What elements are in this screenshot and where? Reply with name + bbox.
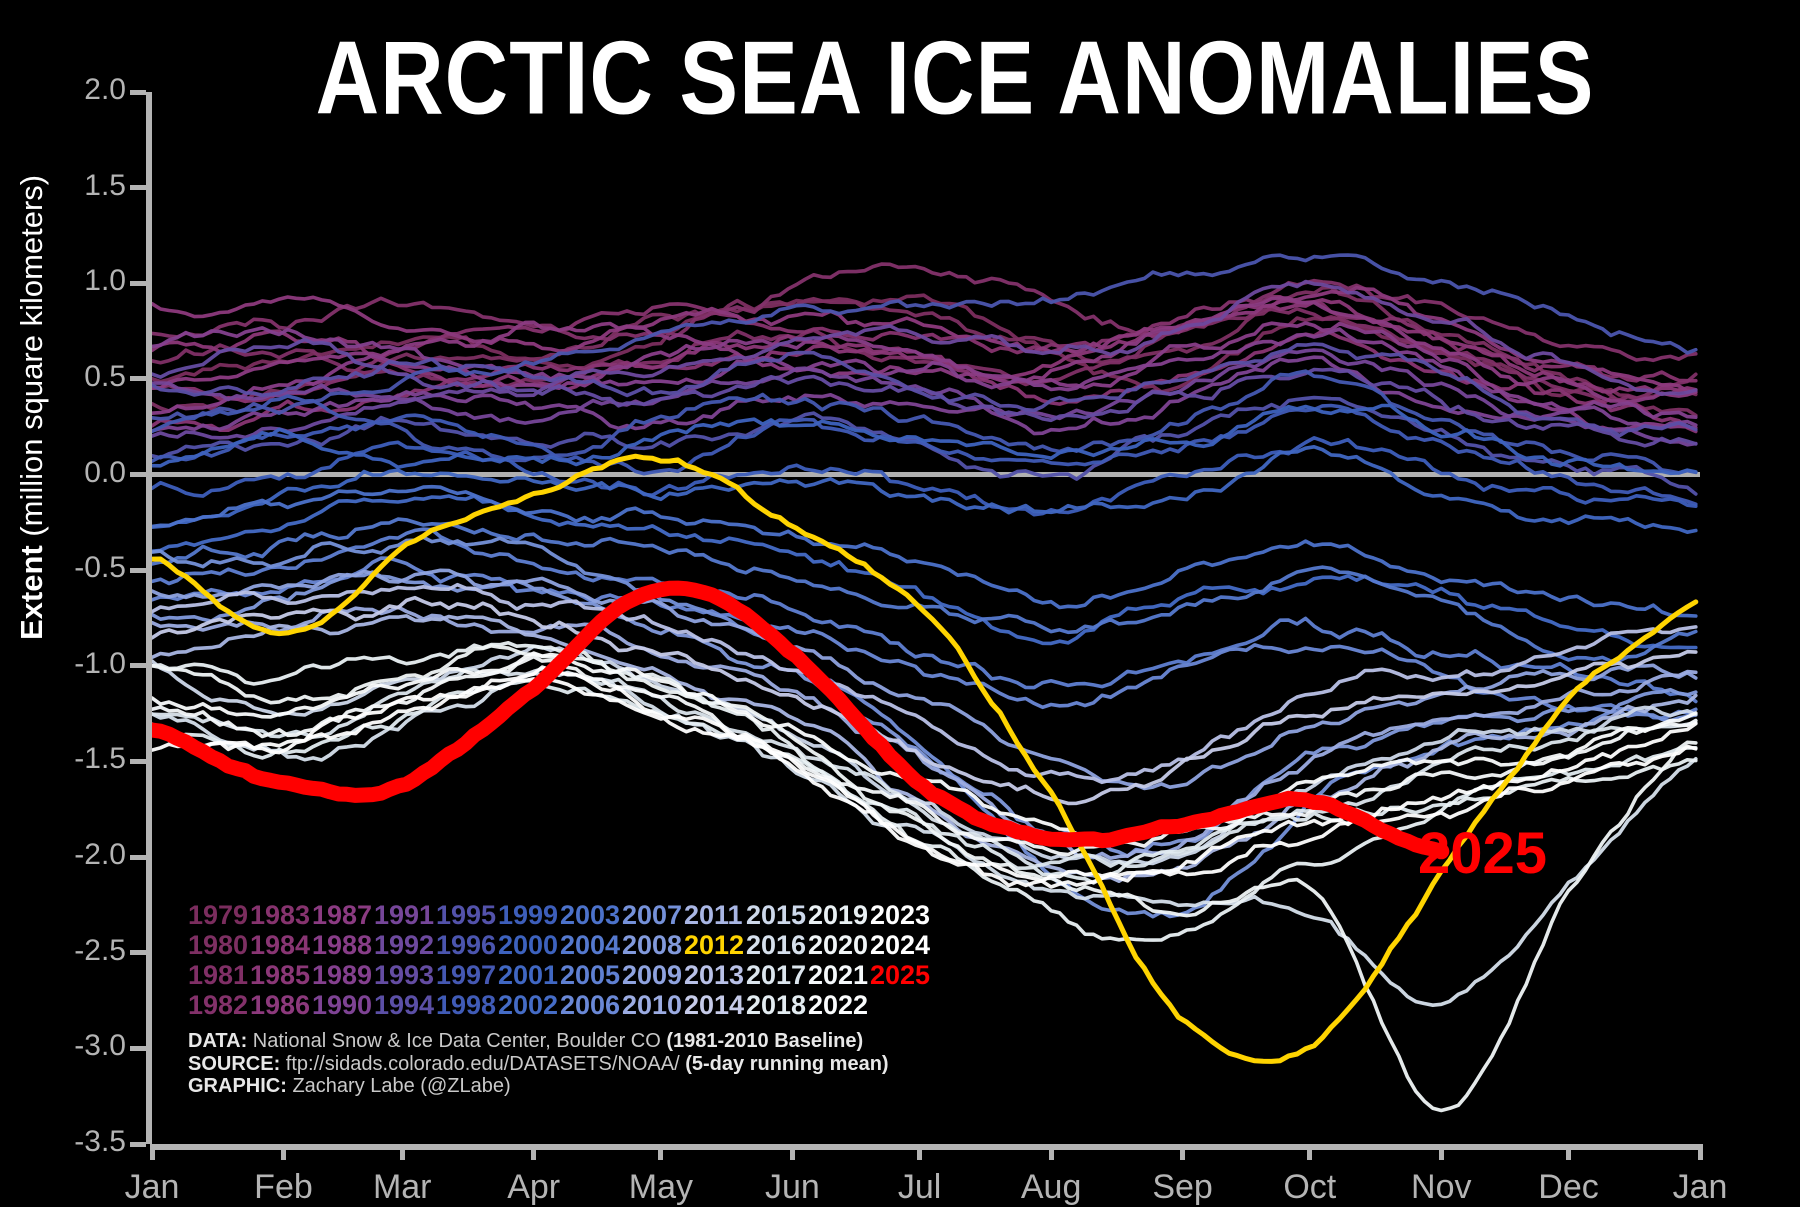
legend-year-2014[interactable]: 2014 <box>684 990 746 1020</box>
credits-data-line: DATA: National Snow & Ice Data Center, B… <box>188 1030 889 1053</box>
x-tick <box>658 1144 663 1160</box>
legend-year-2022[interactable]: 2022 <box>808 990 870 1020</box>
legend-year-2011[interactable]: 2011 <box>684 900 746 930</box>
legend-row: 1979198319871991199519992003200720112015… <box>188 900 932 930</box>
x-axis-line <box>152 1144 1700 1150</box>
y-tick <box>130 1142 146 1147</box>
legend-year-2025[interactable]: 2025 <box>870 960 932 990</box>
x-tick-label: Apr <box>464 1168 604 1207</box>
credits-data-label: DATA: <box>188 1030 247 1052</box>
legend-year-1989[interactable]: 1989 <box>312 960 374 990</box>
x-tick-label: Jan <box>82 1168 222 1207</box>
legend-year-1991[interactable]: 1991 <box>374 900 436 930</box>
y-tick <box>130 759 146 764</box>
legend-year-1987[interactable]: 1987 <box>312 900 374 930</box>
legend-year-2010[interactable]: 2010 <box>622 990 684 1020</box>
x-tick <box>531 1144 536 1160</box>
legend-year-2012[interactable]: 2012 <box>684 930 746 960</box>
x-tick-label: Oct <box>1240 1168 1380 1207</box>
y-tick <box>130 855 146 860</box>
legend-year-2007[interactable]: 2007 <box>622 900 684 930</box>
legend-year-1983[interactable]: 1983 <box>250 900 312 930</box>
legend-year-2013[interactable]: 2013 <box>684 960 746 990</box>
y-tick-label: 1.0 <box>6 264 126 298</box>
legend-year-2009[interactable]: 2009 <box>622 960 684 990</box>
x-tick-label: Jan <box>1630 1168 1770 1207</box>
legend-year-1985[interactable]: 1985 <box>250 960 312 990</box>
y-tick <box>130 376 146 381</box>
legend-year-2006[interactable]: 2006 <box>560 990 622 1020</box>
credits-graphic-line: GRAPHIC: Zachary Labe (@ZLabe) <box>188 1075 889 1098</box>
x-tick-label: May <box>591 1168 731 1207</box>
chart-canvas: ARCTIC SEA ICE ANOMALIES Extent (million… <box>0 0 1800 1200</box>
legend-year-1997[interactable]: 1997 <box>436 960 498 990</box>
legend-year-1980[interactable]: 1980 <box>188 930 250 960</box>
legend-row: 1980198419881992199620002004200820122016… <box>188 930 932 960</box>
legend-year-2000[interactable]: 2000 <box>498 930 560 960</box>
y-tick <box>130 568 146 573</box>
x-tick <box>281 1144 286 1160</box>
legend-year-2018[interactable]: 2018 <box>746 990 808 1020</box>
series-line-2002 <box>152 496 1696 648</box>
x-tick <box>400 1144 405 1160</box>
legend-year-1986[interactable]: 1986 <box>250 990 312 1020</box>
y-tick-label: -1.0 <box>6 647 126 681</box>
legend-year-1979[interactable]: 1979 <box>188 900 250 930</box>
legend-year-2023[interactable]: 2023 <box>870 900 932 930</box>
legend-year-2024[interactable]: 2024 <box>870 930 932 960</box>
x-tick-label: Jul <box>850 1168 990 1207</box>
legend-year-1982[interactable]: 1982 <box>188 990 250 1020</box>
legend-year-2020[interactable]: 2020 <box>808 930 870 960</box>
credits-graphic-label: GRAPHIC: <box>188 1075 287 1097</box>
legend-year-2015[interactable]: 2015 <box>746 900 808 930</box>
legend-row: 1981198519891993199720012005200920132017… <box>188 960 932 990</box>
x-tick-label: Jun <box>722 1168 862 1207</box>
y-tick-label: -0.5 <box>6 551 126 585</box>
x-tick-label: Sep <box>1113 1168 1253 1207</box>
label-2025: 2025 <box>1418 820 1547 887</box>
legend-year-1995[interactable]: 1995 <box>436 900 498 930</box>
legend-year-1993[interactable]: 1993 <box>374 960 436 990</box>
legend-year-1990[interactable]: 1990 <box>312 990 374 1020</box>
credits-source-line: SOURCE: ftp://sidads.colorado.edu/DATASE… <box>188 1053 889 1076</box>
legend-year-1994[interactable]: 1994 <box>374 990 436 1020</box>
y-tick <box>130 281 146 286</box>
y-tick-label: -2.0 <box>6 838 126 872</box>
credits-source-label: SOURCE: <box>188 1053 280 1075</box>
credits-data-baseline: (1981-2010 Baseline) <box>666 1030 863 1052</box>
legend-row: 1982198619901994199820022006201020142018… <box>188 990 932 1020</box>
y-tick <box>130 1046 146 1051</box>
y-tick-label: 0.0 <box>6 456 126 490</box>
legend-year-1984[interactable]: 1984 <box>250 930 312 960</box>
y-tick-label: -2.5 <box>6 934 126 968</box>
y-tick-label: 0.5 <box>6 360 126 394</box>
y-tick-label: 1.5 <box>6 169 126 203</box>
x-tick <box>1180 1144 1185 1160</box>
x-tick <box>917 1144 922 1160</box>
legend-year-2001[interactable]: 2001 <box>498 960 560 990</box>
legend-year-2005[interactable]: 2005 <box>560 960 622 990</box>
legend-year-2002[interactable]: 2002 <box>498 990 560 1020</box>
legend-year-1981[interactable]: 1981 <box>188 960 250 990</box>
x-tick <box>790 1144 795 1160</box>
y-tick <box>130 185 146 190</box>
x-tick <box>1439 1144 1444 1160</box>
legend-year-2004[interactable]: 2004 <box>560 930 622 960</box>
y-tick-label: -3.5 <box>6 1125 126 1159</box>
legend-year-1996[interactable]: 1996 <box>436 930 498 960</box>
x-tick-label: Mar <box>332 1168 472 1207</box>
legend-year-2003[interactable]: 2003 <box>560 900 622 930</box>
y-tick <box>130 663 146 668</box>
credits-source-value: ftp://sidads.colorado.edu/DATASETS/NOAA/ <box>280 1053 685 1075</box>
legend-year-1992[interactable]: 1992 <box>374 930 436 960</box>
legend-year-2016[interactable]: 2016 <box>746 930 808 960</box>
legend-year-2021[interactable]: 2021 <box>808 960 870 990</box>
x-tick-label: Dec <box>1499 1168 1639 1207</box>
x-tick <box>1049 1144 1054 1160</box>
y-tick-label: -3.0 <box>6 1029 126 1063</box>
legend-year-2019[interactable]: 2019 <box>808 900 870 930</box>
legend-year-1999[interactable]: 1999 <box>498 900 560 930</box>
credits-data-value: National Snow & Ice Data Center, Boulder… <box>247 1030 666 1052</box>
y-tick <box>130 950 146 955</box>
legend-year-2017[interactable]: 2017 <box>746 960 808 990</box>
credits-source-mean: (5-day running mean) <box>685 1053 888 1075</box>
x-tick <box>150 1144 155 1160</box>
x-tick-label: Nov <box>1371 1168 1511 1207</box>
legend-year-2008[interactable]: 2008 <box>622 930 684 960</box>
y-tick <box>130 90 146 95</box>
y-tick <box>130 472 146 477</box>
legend-year-1988[interactable]: 1988 <box>312 930 374 960</box>
y-tick-label: 2.0 <box>6 73 126 107</box>
x-tick <box>1698 1144 1703 1160</box>
x-tick <box>1566 1144 1571 1160</box>
year-legend: 1979198319871991199519992003200720112015… <box>188 900 932 1020</box>
legend-year-1998[interactable]: 1998 <box>436 990 498 1020</box>
credits-graphic-value: Zachary Labe (@ZLabe) <box>287 1075 511 1097</box>
x-tick <box>1307 1144 1312 1160</box>
credits-block: DATA: National Snow & Ice Data Center, B… <box>188 1030 889 1098</box>
y-tick-label: -1.5 <box>6 742 126 776</box>
x-tick-label: Aug <box>981 1168 1121 1207</box>
